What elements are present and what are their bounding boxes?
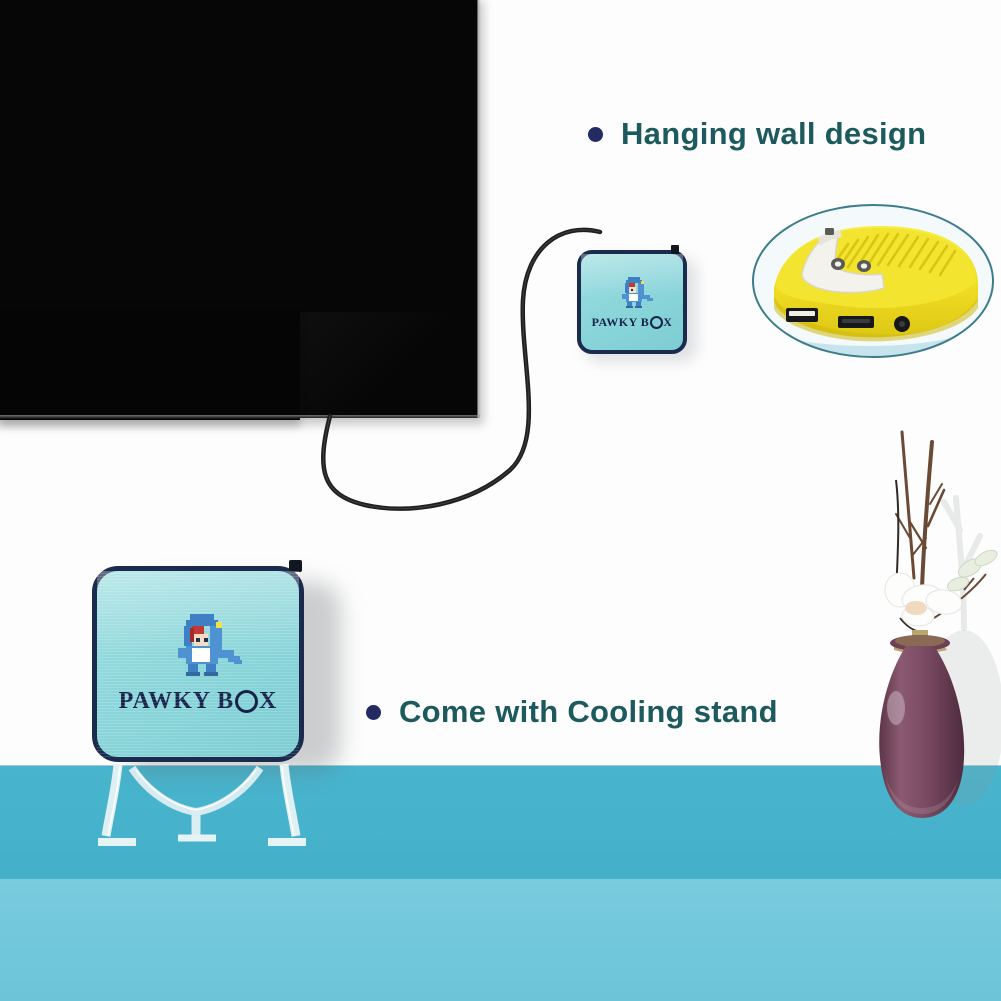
pawky-wordmark-small: PAWKY B X <box>592 315 673 330</box>
caption-text: Come with Cooling stand <box>399 694 778 730</box>
bullet-dot-icon <box>588 127 603 142</box>
yellow-device-detail-inset <box>752 204 994 358</box>
pawky-box-large-face: PAWKY B X <box>97 571 299 757</box>
wordmark-part-1: PAWKY B <box>592 315 650 330</box>
bullet-dot-icon <box>366 705 381 720</box>
television-right-rim <box>477 0 481 418</box>
caption-hanging-wall-design: Hanging wall design <box>588 116 926 152</box>
television-bottom-rim <box>0 415 480 419</box>
wordmark-part-3: X <box>663 315 672 330</box>
pixel-dino-mascot-icon <box>154 608 242 680</box>
pawky-box-large: PAWKY B X <box>92 566 304 762</box>
television-lower-step <box>0 310 300 420</box>
pawky-box-small-face: PAWKY B X <box>581 254 683 350</box>
pixel-dino-mascot-icon <box>610 274 654 310</box>
background-light-blue-band <box>0 879 1001 1001</box>
paw-o-glyph-icon <box>235 690 258 713</box>
clear-acrylic-cooling-stand <box>92 758 310 850</box>
pawky-box-small: PAWKY B X <box>577 250 687 354</box>
television-screen-sheen <box>300 312 478 418</box>
caption-come-with-cooling-stand: Come with Cooling stand <box>366 694 778 730</box>
paw-o-glyph-icon <box>650 316 663 329</box>
antenna-nub-icon <box>671 245 679 254</box>
product-marketing-image: PAWKY B X <box>0 0 1001 1001</box>
caption-text: Hanging wall design <box>621 116 926 152</box>
decorative-vase-with-magnolia-branches <box>852 418 1001 818</box>
